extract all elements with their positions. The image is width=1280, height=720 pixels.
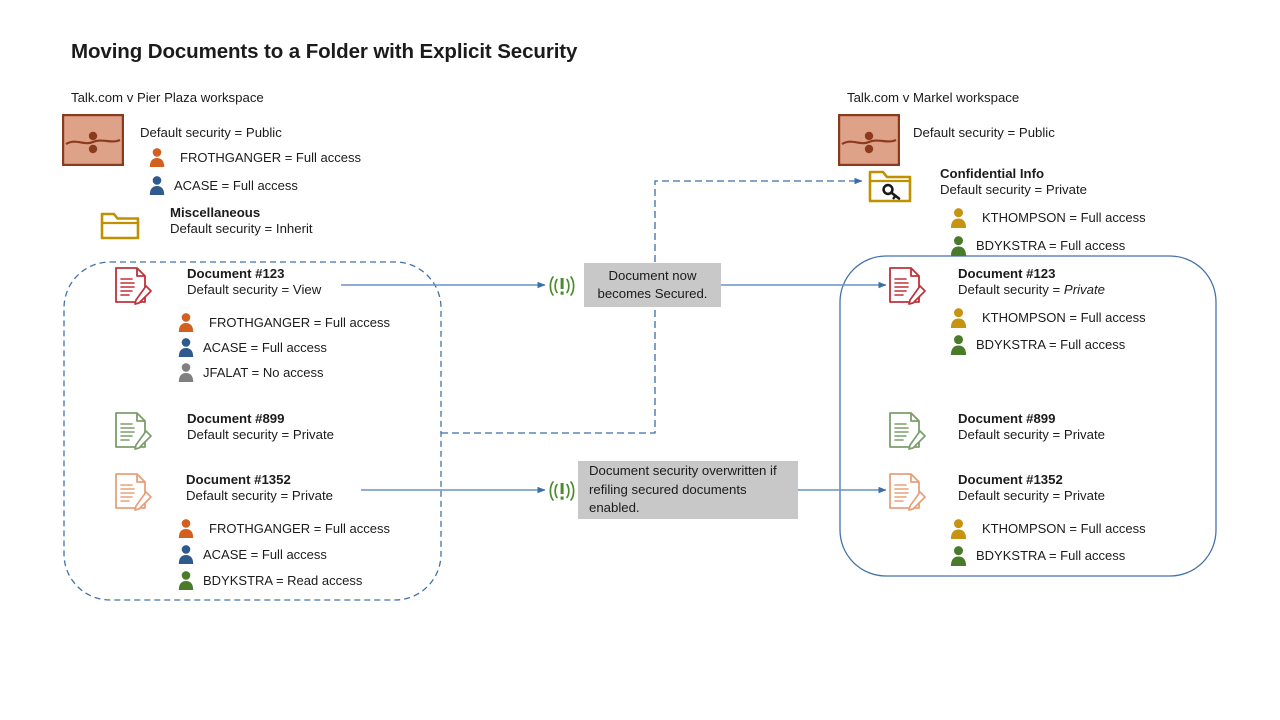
- document-node-899-right: Document #899 Default security = Private: [958, 411, 1105, 445]
- document-security: Default security = Private: [958, 487, 1105, 506]
- document-icon-899-right: [886, 411, 926, 451]
- person-icon: [950, 545, 967, 566]
- confidential-folder-acl-list: KTHOMPSON = Full access BDYKSTRA = Full …: [950, 203, 1146, 259]
- left-workspace-acl-list: FROTHGANGER = Full access ACASE = Full a…: [149, 145, 361, 197]
- connector-folder-dashed: [441, 181, 862, 433]
- acl-user-label: FROTHGANGER = Full access: [209, 315, 390, 330]
- document-1352-right-acl-list: KTHOMPSON = Full access BDYKSTRA = Full …: [950, 515, 1146, 569]
- callout-secured-line1: Document now: [598, 267, 708, 286]
- document-name: Document #899: [958, 411, 1105, 426]
- acl-user-label: FROTHGANGER = Full access: [209, 521, 390, 536]
- left-workspace-label: Talk.com v Pier Plaza workspace: [71, 90, 264, 105]
- right-workspace-default-security: Default security = Public: [913, 124, 1055, 143]
- alert-signal-icon: [544, 477, 580, 505]
- callout-overwritten-line3: enabled.: [589, 499, 777, 518]
- alert-signal-icon: [544, 272, 580, 300]
- person-icon: [950, 334, 967, 355]
- acl-row: KTHOMPSON = Full access: [950, 515, 1146, 542]
- person-icon: [178, 362, 194, 382]
- document-123-right-acl-list: KTHOMPSON = Full access BDYKSTRA = Full …: [950, 304, 1146, 358]
- acl-row: BDYKSTRA = Full access: [950, 231, 1146, 259]
- acl-row: FROTHGANGER = Full access: [149, 145, 361, 169]
- person-icon: [178, 570, 194, 590]
- acl-row: FROTHGANGER = Full access: [178, 310, 390, 334]
- person-icon: [178, 518, 194, 538]
- folder-security: Default security = Private: [940, 181, 1087, 200]
- acl-user-label: BDYKSTRA = Full access: [976, 548, 1125, 563]
- acl-user-label: KTHOMPSON = Full access: [982, 521, 1146, 536]
- person-icon: [950, 207, 967, 228]
- acl-user-label: ACASE = Full access: [203, 340, 327, 355]
- document-node-123-left: Document #123 Default security = View: [187, 266, 321, 300]
- document-security: Default security = Private: [958, 281, 1105, 300]
- document-security: Default security = Private: [186, 487, 333, 506]
- folder-name: Confidential Info: [940, 166, 1087, 181]
- acl-user-label: BDYKSTRA = Read access: [203, 573, 362, 588]
- miscellaneous-folder-node: Miscellaneous Default security = Inherit: [170, 205, 313, 239]
- callout-overwritten-line2: refiling secured documents: [589, 481, 777, 500]
- acl-user-label: BDYKSTRA = Full access: [976, 337, 1125, 352]
- acl-row: BDYKSTRA = Full access: [950, 542, 1146, 569]
- acl-row: ACASE = Full access: [178, 542, 390, 566]
- document-security-value: Private: [1064, 427, 1105, 442]
- callout-overwritten-line1: Document security overwritten if: [589, 462, 777, 481]
- document-123-left-acl-list: FROTHGANGER = Full access ACASE = Full a…: [178, 310, 390, 384]
- person-icon: [950, 235, 967, 256]
- document-security-value: Private: [1064, 282, 1105, 297]
- acl-user-label: ACASE = Full access: [174, 178, 298, 193]
- folder-name: Miscellaneous: [170, 205, 313, 220]
- workspace-icon: [62, 114, 124, 166]
- acl-user-label: KTHOMPSON = Full access: [982, 210, 1146, 225]
- document-security-prefix: Default security =: [958, 427, 1064, 442]
- folder-key-icon: [868, 168, 912, 204]
- person-icon: [950, 307, 967, 328]
- acl-row: KTHOMPSON = Full access: [950, 304, 1146, 331]
- document-icon-1352-right: [886, 472, 926, 512]
- document-security-value: Private: [1064, 488, 1105, 503]
- left-workspace-default-security: Default security = Public: [140, 124, 282, 143]
- acl-user-label: KTHOMPSON = Full access: [982, 310, 1146, 325]
- document-security: Default security = Private: [958, 426, 1105, 445]
- document-1352-left-acl-list: FROTHGANGER = Full access ACASE = Full a…: [178, 516, 390, 592]
- key-glyph: [884, 185, 899, 198]
- document-security-prefix: Default security =: [958, 282, 1064, 297]
- document-icon-1352-left: [112, 472, 152, 512]
- person-icon: [178, 544, 194, 564]
- acl-row: ACASE = Full access: [178, 335, 390, 359]
- document-node-123-right: Document #123 Default security = Private: [958, 266, 1105, 300]
- acl-row: BDYKSTRA = Read access: [178, 568, 390, 592]
- acl-user-label: FROTHGANGER = Full access: [180, 150, 361, 165]
- callout-overwritten: Document security overwritten if refilin…: [578, 461, 798, 519]
- workspace-icon: [838, 114, 900, 166]
- acl-row: FROTHGANGER = Full access: [178, 516, 390, 540]
- document-name: Document #1352: [186, 472, 333, 487]
- document-icon-899-left: [112, 411, 152, 451]
- document-name: Document #1352: [958, 472, 1105, 487]
- document-name: Document #899: [187, 411, 334, 426]
- acl-row: KTHOMPSON = Full access: [950, 203, 1146, 231]
- person-icon: [178, 312, 194, 332]
- document-security-prefix: Default security =: [958, 488, 1064, 503]
- folder-security: Default security = Inherit: [170, 220, 313, 239]
- acl-row: ACASE = Full access: [149, 173, 361, 197]
- folder-icon: [100, 209, 140, 241]
- callout-secured: Document now becomes Secured.: [584, 263, 721, 307]
- person-icon: [149, 175, 165, 195]
- acl-row: BDYKSTRA = Full access: [950, 331, 1146, 358]
- document-security: Default security = View: [187, 281, 321, 300]
- acl-user-label: JFALAT = No access: [203, 365, 324, 380]
- document-icon-123-left: [112, 266, 152, 306]
- document-node-1352-left: Document #1352 Default security = Privat…: [186, 472, 333, 506]
- callout-secured-line2: becomes Secured.: [598, 285, 708, 304]
- acl-user-label: BDYKSTRA = Full access: [976, 238, 1125, 253]
- person-icon: [178, 337, 194, 357]
- confidential-info-folder-node: Confidential Info Default security = Pri…: [940, 166, 1087, 200]
- person-icon: [149, 147, 165, 167]
- document-node-1352-right: Document #1352 Default security = Privat…: [958, 472, 1105, 506]
- person-icon: [950, 518, 967, 539]
- document-name: Document #123: [958, 266, 1105, 281]
- document-name: Document #123: [187, 266, 321, 281]
- right-workspace-label: Talk.com v Markel workspace: [847, 90, 1019, 105]
- document-node-899-left: Document #899 Default security = Private: [187, 411, 334, 445]
- document-icon-123-right: [886, 266, 926, 306]
- acl-user-label: ACASE = Full access: [203, 547, 327, 562]
- page-title: Moving Documents to a Folder with Explic…: [71, 40, 577, 64]
- acl-row: JFALAT = No access: [178, 360, 390, 384]
- document-security: Default security = Private: [187, 426, 334, 445]
- diagram-canvas: Moving Documents to a Folder with Explic…: [0, 0, 1280, 720]
